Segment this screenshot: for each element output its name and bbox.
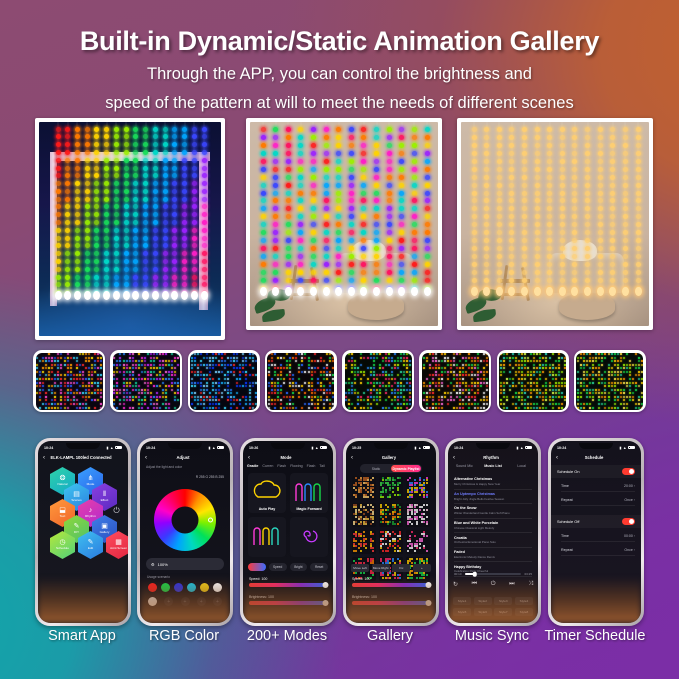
time-total: 03:25 xyxy=(524,572,532,576)
brightness-value: 100% xyxy=(158,562,168,567)
hero-photo-row xyxy=(0,118,679,340)
color-wheel-handle[interactable] xyxy=(208,518,213,523)
brightness-bar[interactable]: ⚙ 100% xyxy=(146,558,224,570)
gallery-item-pixel-bear[interactable] xyxy=(352,503,376,527)
hero-photo-warmwhite xyxy=(457,118,653,330)
music-tab-sound-mic[interactable]: Sound Mic xyxy=(452,464,477,468)
feature-caption-timer-schedule: Timer Schedule xyxy=(535,628,655,645)
mode-pill-toggle[interactable] xyxy=(248,563,266,571)
wifi-icon: ▲ xyxy=(110,446,114,450)
mode-pill-bright[interactable]: Bright xyxy=(290,563,308,571)
mode-pill-reset[interactable]: Reset xyxy=(310,563,328,571)
schedule-row-time[interactable]: Time 20:00 › xyxy=(561,481,635,492)
hero-photo-multicolor xyxy=(246,118,442,330)
schedule-row-time[interactable]: Time 00:00 › xyxy=(561,531,635,542)
nav-bar: ‹ ELK-LAMPL 100led Connected xyxy=(38,452,128,463)
hex-label: DIY xyxy=(74,531,79,534)
status-time: 10:24 xyxy=(454,446,463,450)
phone-rgb-color: 10:24 ▮ ▲ ‹ Adjust Adjust the light and … xyxy=(137,438,233,626)
nav-title: Gallery xyxy=(353,455,425,460)
song-subtitle: Chinese Classical Light Melody xyxy=(454,526,532,530)
song-row[interactable]: Alternative Christmas Merry Christmas & … xyxy=(454,475,532,490)
signal-icon: ▮ xyxy=(619,446,621,450)
music-tab-music-list[interactable]: Music List xyxy=(481,464,506,468)
hex-label: Gallery xyxy=(100,531,110,534)
nav-bar: ‹ Adjust xyxy=(140,452,230,463)
song-subtitle: Electronic Melody Dance Remix xyxy=(454,555,532,559)
hex-label: Scenes xyxy=(71,499,81,502)
gallery-segment-dynamic-playlist[interactable]: Dynamic Playlist xyxy=(391,465,421,472)
battery-icon xyxy=(115,446,122,450)
hex-label: Rhythm xyxy=(85,515,96,518)
phone-screenshot-row: 10:24 ▮ ▲ ‹ ELK-LAMPL 100led Connected ❂… xyxy=(0,438,679,628)
hex-label: Schedule xyxy=(56,547,69,550)
row-label: Repeat xyxy=(561,548,573,552)
mode-tab-curren[interactable]: Curren xyxy=(262,464,273,468)
phone-screen-body: Schedule On Time 20:00 › Repeat Once › S… xyxy=(551,463,641,623)
thumbnail-pattern-butterfly[interactable] xyxy=(110,350,182,412)
schedule-row-repeat[interactable]: Repeat Once › xyxy=(561,545,635,556)
wifi-icon: ▲ xyxy=(623,446,627,450)
gallery-item-pixel-person[interactable] xyxy=(352,476,376,500)
gallery-item-pixel-angel[interactable] xyxy=(406,503,430,527)
gallery-item-pixel-sale-sign[interactable] xyxy=(379,530,403,554)
hex-label: Edit xyxy=(88,547,93,550)
status-time: 10:26 xyxy=(249,446,258,450)
hex-label: Joint Screen xyxy=(110,547,127,550)
phone-notch xyxy=(168,443,202,449)
phone-music-sync: 10:24 ▮ ▲ ‹ Rhythm Sound MicMusic ListLo… xyxy=(445,438,541,626)
schedule-row-repeat[interactable]: Repeat Once › xyxy=(561,495,635,506)
song-row[interactable]: Blue and White Porcelain Chinese Classic… xyxy=(454,519,532,534)
playback-progress[interactable]: 00:10 03:25 xyxy=(454,572,532,576)
phone-notch xyxy=(579,443,613,449)
wifi-icon: ▲ xyxy=(212,446,216,450)
spiral-icon xyxy=(294,523,324,552)
phone-notch xyxy=(374,443,408,449)
header-banner: Built-in Dynamic/Static Animation Galler… xyxy=(0,0,679,116)
clock-icon: ◷ xyxy=(59,539,65,546)
row-value: Once xyxy=(624,548,632,552)
mode-card-3[interactable] xyxy=(248,517,286,557)
mode-card-1[interactable]: Auto Play xyxy=(248,473,286,513)
row-value: 20:00 xyxy=(624,484,633,488)
schedule-header-2: Schedule Off xyxy=(551,515,641,528)
schedule-title: Schedule On xyxy=(557,469,580,474)
cloud-outline-icon xyxy=(250,479,284,508)
feature-caption-music-sync: Music Sync xyxy=(432,628,552,645)
gallery-item-pixel-pumpkin[interactable] xyxy=(379,503,403,527)
status-time: 10:24 xyxy=(557,446,566,450)
schedule-toggle[interactable] xyxy=(622,518,635,525)
schedule-header-1: Schedule On xyxy=(551,465,641,478)
phone-screen-body: Sound MicMusic ListLocal Alternative Chr… xyxy=(448,463,538,623)
gallery-segment-static[interactable]: Static xyxy=(361,465,391,472)
song-subtitle: Merry Christmas & Happy New Year xyxy=(454,482,532,486)
phone-screen-body: ❂ Natural ⋔ Mode ▤ Scenes ⦀ Effect ⬓ Tex… xyxy=(38,463,128,623)
battery-icon xyxy=(320,446,327,450)
song-title: Faded xyxy=(454,550,532,554)
subtitle-line-1: Through the APP, you can control the bri… xyxy=(0,62,679,86)
feature-caption-rgb-color: RGB Color xyxy=(124,628,244,645)
gallery-segmented-control: StaticDynamic Playlist xyxy=(360,464,422,473)
signal-icon: ▮ xyxy=(414,446,416,450)
grid-icon: ▦ xyxy=(115,539,122,546)
power-icon[interactable]: ⏻ xyxy=(110,504,123,517)
phone-screen-body: StaticDynamic Playlist Move LeftMove Rig… xyxy=(346,463,436,623)
gallery-item-pixel-bunny[interactable] xyxy=(406,530,430,554)
status-time: 10:25 xyxy=(352,446,361,450)
progress-knob xyxy=(473,572,478,577)
mode-pill-speed[interactable]: Speed xyxy=(269,563,287,571)
thumbnail-pattern-santa-hat[interactable] xyxy=(419,350,491,412)
phone-notch xyxy=(271,443,305,449)
nav-bar: ‹ Gallery xyxy=(346,452,436,463)
schedule-title: Schedule Off xyxy=(557,519,579,524)
thumbnail-pattern-green-face[interactable] xyxy=(497,350,569,412)
row-value: Once xyxy=(624,498,632,502)
gallery-button-fix[interactable]: Fix xyxy=(392,564,410,572)
feature-caption-200+-modes: 200+ Modes xyxy=(227,628,347,645)
thumbnail-pattern-house[interactable] xyxy=(33,350,105,412)
mode-tab-flash[interactable]: Flash xyxy=(277,464,286,468)
song-list: Alternative Christmas Merry Christmas & … xyxy=(454,475,532,577)
mode-tab-flash[interactable]: Flash xyxy=(307,464,316,468)
battery-icon xyxy=(217,446,224,450)
phone-smart-app: 10:24 ▮ ▲ ‹ ELK-LAMPL 100led Connected ❂… xyxy=(35,438,131,626)
gallery-button-move-left[interactable]: Move Left xyxy=(351,564,369,572)
gallery-button-row: Move LeftMove RightFix+ xyxy=(351,564,431,572)
song-subtitle: Winter Wonderland Gentle Calm Soft Piano xyxy=(454,511,532,515)
mode-pill-row: SpeedBrightReset xyxy=(248,563,328,571)
wifi-icon: ▲ xyxy=(520,446,524,450)
nav-title: ELK-LAMPL 100led Connected xyxy=(45,455,117,460)
song-title: Happy Birthday xyxy=(454,565,532,569)
leaf-icon: ❂ xyxy=(60,475,66,482)
chevron-right-icon: › xyxy=(634,484,635,488)
nav-bar: ‹ Schedule xyxy=(551,452,641,463)
chevron-right-icon: › xyxy=(634,548,635,552)
battery-icon xyxy=(628,446,635,450)
brush-icon: ✎ xyxy=(74,523,80,530)
phone-screen-body: GradieCurrenFlashFlowingFlashTail Auto P… xyxy=(243,463,333,623)
progress-track[interactable] xyxy=(465,573,522,575)
hex-label: Natural xyxy=(58,483,68,486)
song-subtitle: Orchestral Emotional Piano Solo xyxy=(454,540,532,544)
thumbnail-pattern-green-dots[interactable] xyxy=(342,350,414,412)
thumbnail-pattern-blue-heart[interactable] xyxy=(188,350,260,412)
phone-gallery: 10:25 ▮ ▲ ‹ Gallery StaticDynamic Playli… xyxy=(343,438,439,626)
hex-label: Effect xyxy=(101,499,109,502)
text-box-icon: ⬓ xyxy=(59,507,66,514)
song-row[interactable]: An Uptempo Christmas Bright Jolly Jingle… xyxy=(454,490,532,505)
row-label: Time xyxy=(561,484,569,488)
mode-tab-tail[interactable]: Tail xyxy=(319,464,324,468)
song-row[interactable]: Faded Electronic Melody Dance Remix xyxy=(454,548,532,563)
mode-card-4[interactable] xyxy=(290,517,328,557)
battery-icon xyxy=(423,446,430,450)
clapper-icon: ▤ xyxy=(73,491,80,498)
chevron-right-icon: › xyxy=(634,534,635,538)
signal-icon: ▮ xyxy=(516,446,518,450)
status-time: 10:24 xyxy=(146,446,155,450)
music-tabs: Sound MicMusic ListLocal xyxy=(452,464,534,468)
hex-label: Mode xyxy=(87,483,95,486)
wifi-icon: ▲ xyxy=(418,446,422,450)
rgb-readout: R 255 G 255 B 255 xyxy=(196,475,224,479)
mode-card-label: Magic Forward xyxy=(290,507,328,511)
page-title: Built-in Dynamic/Static Animation Galler… xyxy=(0,26,679,57)
gallery-button-add[interactable]: + xyxy=(413,564,431,572)
song-title: On the Snow xyxy=(454,506,532,510)
feature-caption-row: Smart AppRGB Color200+ ModesGalleryMusic… xyxy=(0,628,679,676)
image-icon: ▣ xyxy=(101,523,108,530)
song-title: Alternative Christmas xyxy=(454,477,532,481)
music-note-icon: ♪ xyxy=(89,507,93,514)
song-title: Croatia xyxy=(454,536,532,540)
pencil-icon: ✎ xyxy=(88,539,94,546)
gallery-button-move-right[interactable]: Move Right xyxy=(372,564,390,572)
wifi-icon: ▲ xyxy=(315,446,319,450)
signal-icon: ▮ xyxy=(106,446,108,450)
song-title: Blue and White Porcelain xyxy=(454,521,532,525)
gallery-item-pixel-dinosaur[interactable] xyxy=(379,476,403,500)
row-label: Repeat xyxy=(561,498,573,502)
thumbnail-pattern-rainbow-heart[interactable] xyxy=(574,350,646,412)
chevron-right-icon: › xyxy=(634,498,635,502)
song-subtitle: Bright Jolly Jingle Bells Festive Season xyxy=(454,497,532,501)
signal-icon: ▮ xyxy=(311,446,313,450)
status-time: 10:24 xyxy=(44,446,53,450)
music-tab-local[interactable]: Local xyxy=(509,464,534,468)
pattern-thumbnail-strip xyxy=(33,350,646,412)
battery-icon xyxy=(525,446,532,450)
wave-lines-icon xyxy=(292,479,326,508)
song-title: An Uptempo Christmas xyxy=(454,492,532,496)
gallery-item-pixel-rainbow[interactable] xyxy=(406,476,430,500)
hero-photo-outdoor xyxy=(35,118,225,340)
mode-card-2[interactable]: Magic Forward xyxy=(290,473,328,513)
section-hint: Adjust the light and color xyxy=(146,465,182,469)
mode-tab-flowing[interactable]: Flowing xyxy=(290,464,302,468)
nav-title: Rhythm xyxy=(455,455,527,460)
phone-notch xyxy=(66,443,100,449)
nav-bar: ‹ Mode xyxy=(243,452,333,463)
hex-label: Text xyxy=(60,515,66,518)
signal-icon: ▮ xyxy=(208,446,210,450)
subtitle-line-2: speed of the pattern at will to meet the… xyxy=(0,91,679,115)
row-label: Time xyxy=(561,534,569,538)
color-wheel[interactable] xyxy=(154,489,216,551)
nav-title: Mode xyxy=(250,455,322,460)
gallery-item-pixel-candy[interactable] xyxy=(352,530,376,554)
gear-icon: ⚙ xyxy=(151,562,155,567)
schedule-toggle[interactable] xyxy=(622,468,635,475)
row-value: 00:00 xyxy=(624,534,633,538)
phone-screen-body: Adjust the light and color R 255 G 255 B… xyxy=(140,463,230,623)
phone-200+-modes: 10:26 ▮ ▲ ‹ Mode GradieCurrenFlashFlowin… xyxy=(240,438,336,626)
nav-bar: ‹ Rhythm xyxy=(448,452,538,463)
nav-title: Schedule xyxy=(558,455,630,460)
song-row[interactable]: Croatia Orchestral Emotional Piano Solo xyxy=(454,533,532,548)
mode-tab-gradie[interactable]: Gradie xyxy=(247,464,258,468)
mode-card-grid: Auto Play Magic Forward xyxy=(248,473,328,557)
mode-card-label: Auto Play xyxy=(248,507,286,511)
thumbnail-pattern-letters[interactable] xyxy=(265,350,337,412)
sliders-icon: ⋔ xyxy=(88,475,94,482)
waveform-icon: ⦀ xyxy=(103,491,106,498)
phone-notch xyxy=(476,443,510,449)
time-elapsed: 00:10 xyxy=(454,572,462,576)
phone-timer-schedule: 10:24 ▮ ▲ ‹ Schedule Schedule On Time 20… xyxy=(548,438,644,626)
mode-tabs: GradieCurrenFlashFlowingFlashTail xyxy=(247,464,329,468)
nav-title: Adjust xyxy=(147,455,219,460)
wave-lines-icon xyxy=(250,523,284,552)
song-row[interactable]: On the Snow Winter Wonderland Gentle Cal… xyxy=(454,504,532,519)
